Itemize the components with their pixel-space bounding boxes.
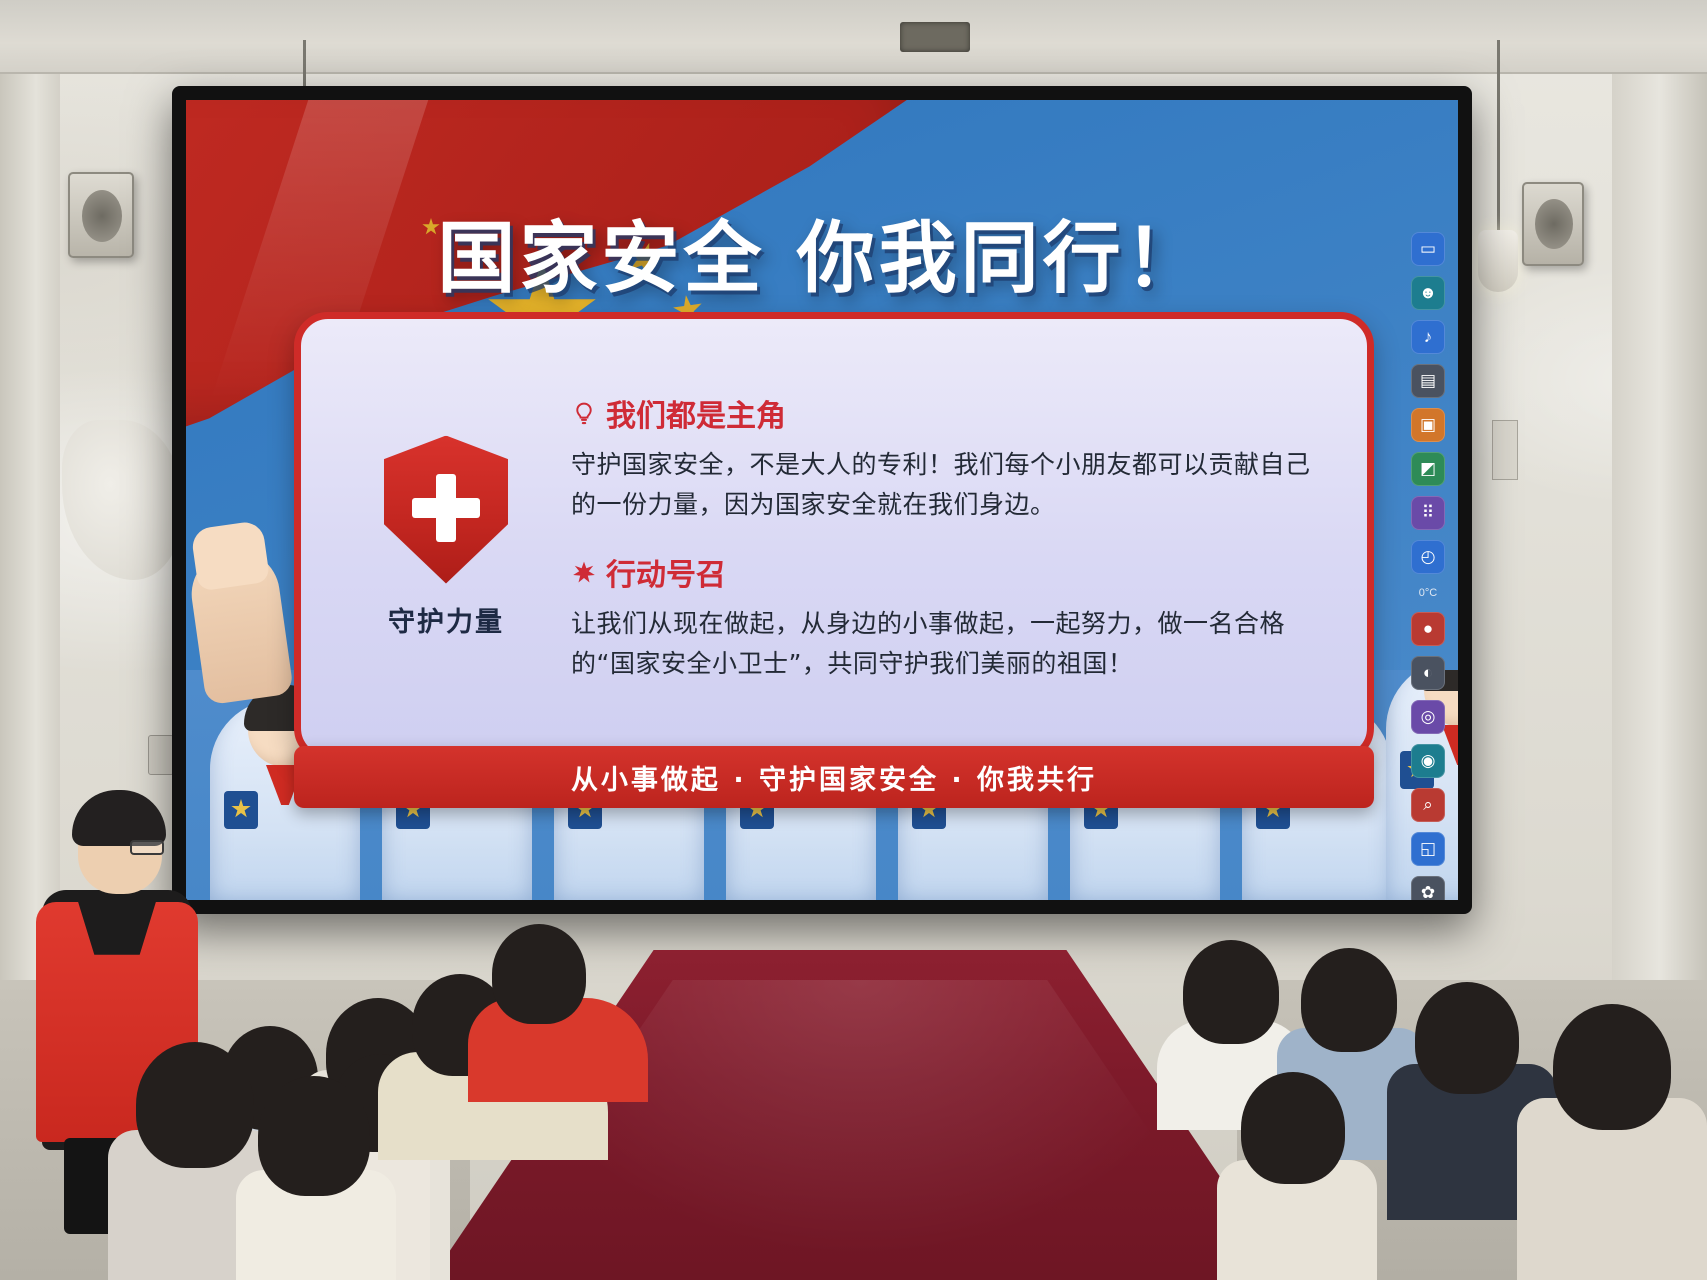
account-icon[interactable]: ☻ bbox=[1411, 276, 1445, 310]
camera-icon[interactable]: ▣ bbox=[1411, 408, 1445, 442]
apps-icon[interactable]: ⠿ bbox=[1411, 496, 1445, 530]
headset-icon[interactable]: ◎ bbox=[1411, 700, 1445, 734]
wall-pillar-right bbox=[1612, 74, 1707, 1064]
shield-cross-icon bbox=[384, 436, 508, 584]
student bbox=[236, 1080, 396, 1280]
student bbox=[1517, 980, 1707, 1280]
slide-content-card: 守护力量 bbox=[294, 312, 1374, 762]
slide-section-1-heading-row: 我们都是主角 bbox=[571, 391, 1323, 435]
lightbulb-icon bbox=[571, 400, 597, 426]
slide-bottom-banner: 从小事做起 · 守护国家安全 · 你我共行 bbox=[294, 746, 1374, 808]
hanging-bulb-right-icon bbox=[1478, 230, 1518, 292]
shield-label: 守护力量 bbox=[388, 600, 504, 639]
search-icon[interactable]: ⌕ bbox=[1411, 788, 1445, 822]
slide-section-1-heading: 我们都是主角 bbox=[606, 391, 786, 435]
student bbox=[468, 942, 648, 1102]
eye-icon[interactable]: ◉ bbox=[1411, 744, 1445, 778]
slide-section-2-heading: 行动号召 bbox=[606, 550, 726, 594]
slide-banner-text: 从小事做起 · 守护国家安全 · 你我共行 bbox=[571, 758, 1097, 797]
ceiling-speaker-right-icon bbox=[1522, 182, 1584, 266]
shield-block: 守护力量 bbox=[335, 436, 557, 639]
temperature-label: 0°C bbox=[1411, 584, 1445, 602]
wall-conduit-box bbox=[1492, 420, 1518, 480]
display-icon[interactable]: ▭ bbox=[1411, 232, 1445, 266]
display-screen[interactable]: 国家安全 你我同行！ 守护力量 bbox=[186, 100, 1458, 900]
record-icon[interactable]: ● bbox=[1411, 612, 1445, 646]
glasses-icon bbox=[130, 840, 164, 855]
slide-text-column: 我们都是主角 守护国家安全，不是大人的专利！我们每个小朋友都可以贡献自己的一份力… bbox=[557, 391, 1333, 683]
slide-section-1-body: 守护国家安全，不是大人的专利！我们每个小朋友都可以贡献自己的一份力量，因为国家安… bbox=[571, 445, 1323, 524]
slide-section-2-heading-row: 行动号召 bbox=[571, 550, 1323, 594]
student bbox=[1217, 1070, 1377, 1280]
ceiling-speaker-left-icon bbox=[68, 172, 134, 258]
document-icon[interactable]: ▤ bbox=[1411, 364, 1445, 398]
slide-section-2: 行动号召 让我们从现在做起，从身边的小事做起，一起努力，做一名合格的“国家安全小… bbox=[571, 550, 1323, 683]
presentation-slide: 国家安全 你我同行！ 守护力量 bbox=[186, 100, 1458, 900]
ceiling bbox=[0, 0, 1707, 74]
slide-section-2-body: 让我们从现在做起，从身边的小事做起，一起努力，做一名合格的“国家安全小卫士”，共… bbox=[571, 604, 1323, 683]
classroom-scene: 国家安全 你我同行！ 守护力量 bbox=[0, 0, 1707, 1280]
light-cord-right bbox=[1497, 40, 1500, 230]
wifi-icon[interactable]: ◴ bbox=[1411, 540, 1445, 574]
interactive-display[interactable]: 国家安全 你我同行！ 守护力量 bbox=[172, 86, 1472, 914]
settings-icon[interactable]: ✿ bbox=[1411, 876, 1445, 900]
wall-socket[interactable] bbox=[148, 735, 174, 775]
sparkle-icon bbox=[571, 559, 597, 585]
slide-section-1: 我们都是主角 守护国家安全，不是大人的专利！我们每个小朋友都可以贡献自己的一份力… bbox=[571, 391, 1323, 524]
ceiling-vent bbox=[900, 22, 970, 52]
music-icon[interactable]: ♪ bbox=[1411, 320, 1445, 354]
slide-title: 国家安全 你我同行！ bbox=[186, 196, 1458, 308]
screen-icon-rail[interactable]: ▭☻♪▤▣◩⠿◴0°C●◐◎◉⌕◱✿ bbox=[1408, 232, 1448, 900]
gallery-icon[interactable]: ◩ bbox=[1411, 452, 1445, 486]
sound-icon[interactable]: ◐ bbox=[1411, 656, 1445, 690]
cast-icon[interactable]: ◱ bbox=[1411, 832, 1445, 866]
